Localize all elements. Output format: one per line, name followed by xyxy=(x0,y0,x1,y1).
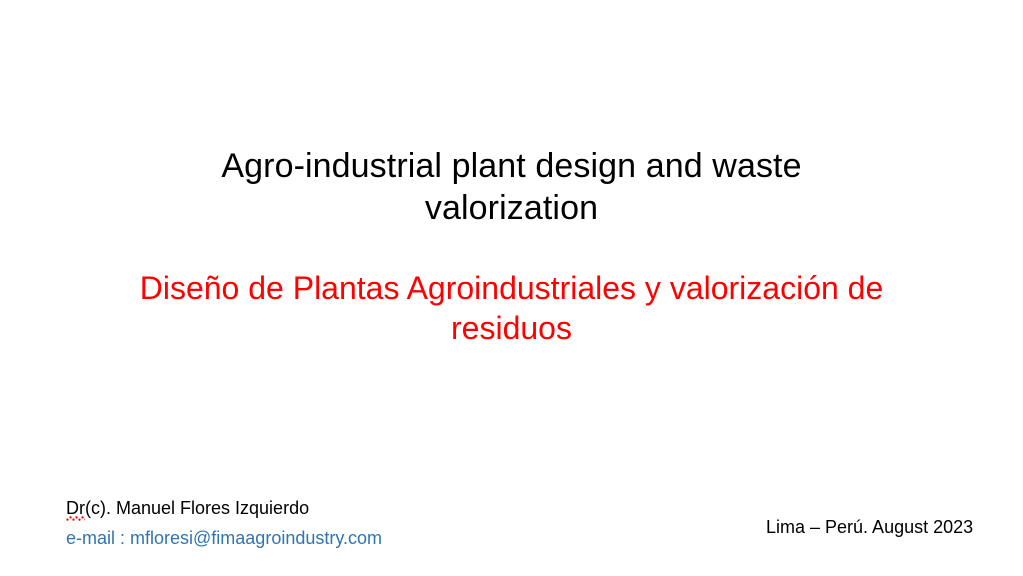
subtitle-line-2: residuos xyxy=(80,308,943,348)
author-contact-block: Dr(c). Manuel Flores Izquierdo e-mail : … xyxy=(66,495,382,551)
place-and-date: Lima – Perú. August 2023 xyxy=(766,514,973,540)
author-name-rest: (c). Manuel Flores Izquierdo xyxy=(85,498,309,518)
title-line-1: Agro-industrial plant design and waste xyxy=(100,145,923,187)
subtitle-line-1: Diseño de Plantas Agroindustriales y val… xyxy=(80,268,943,308)
spellcheck-underline-dr: Dr xyxy=(66,498,85,521)
title-line-2: valorization xyxy=(100,187,923,229)
author-email[interactable]: e-mail : mfloresi@fimaagroindustry.com xyxy=(66,525,382,551)
slide-subtitle: Diseño de Plantas Agroindustriales y val… xyxy=(80,268,943,348)
presentation-slide: Agro-industrial plant design and waste v… xyxy=(0,0,1023,576)
slide-title: Agro-industrial plant design and waste v… xyxy=(100,145,923,229)
author-name: Dr(c). Manuel Flores Izquierdo xyxy=(66,495,382,521)
